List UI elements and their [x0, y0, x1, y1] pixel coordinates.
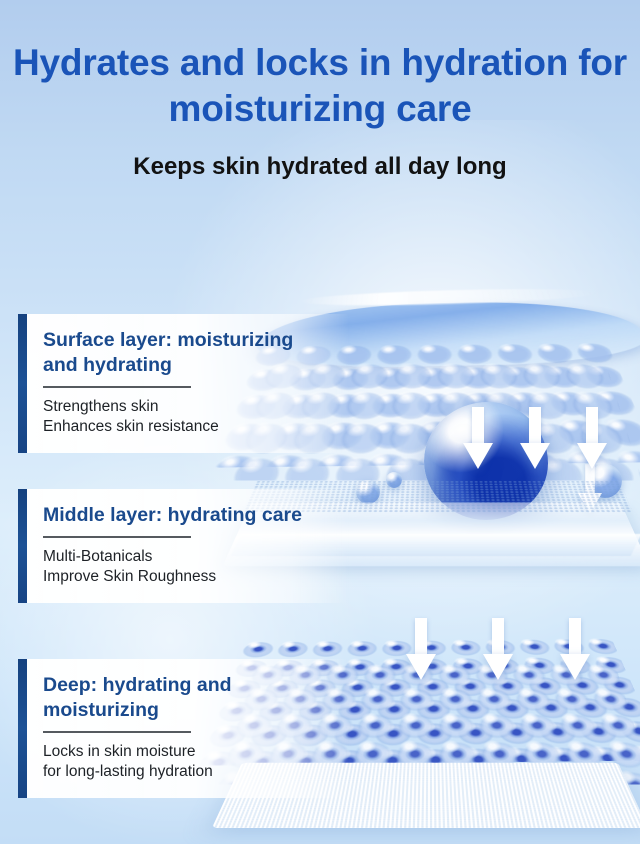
card-accent-bar — [18, 489, 27, 603]
down-arrow-row1-1 — [463, 407, 493, 469]
down-arrow-row2-1 — [406, 618, 436, 680]
card-body: Locks in skin moisture for long-lasting … — [43, 742, 333, 782]
arrow-head — [577, 443, 607, 469]
arrow-head — [406, 654, 436, 680]
card-panel: Surface layer: moisturizing and hydratin… — [27, 314, 349, 453]
arrow-head — [520, 443, 550, 469]
arrow-stem — [529, 407, 541, 447]
down-arrow-row1-3 — [577, 407, 607, 469]
down-arrow-row2-3 — [560, 618, 590, 680]
card-accent-bar — [18, 659, 27, 798]
down-arrow-row2-2 — [483, 618, 513, 680]
page-subheadline: Keeps skin hydrated all day long — [0, 152, 640, 182]
down-arrow-row1-2 — [520, 407, 550, 469]
card-panel: Middle layer: hydrating care Multi-Botan… — [27, 489, 349, 603]
info-card-deep-layer: Deep: hydrating and moisturizing Locks i… — [18, 659, 349, 798]
arrow-stem — [415, 618, 427, 658]
card-title: Deep: hydrating and moisturizing — [43, 673, 333, 723]
arrow-stem — [586, 407, 598, 447]
card-divider — [43, 536, 191, 538]
poster-root: Hydrates and locks in hydration for mois… — [0, 0, 640, 844]
card-title: Surface layer: moisturizing and hydratin… — [43, 328, 333, 378]
info-card-middle-layer: Middle layer: hydrating care Multi-Botan… — [18, 489, 349, 603]
card-title: Middle layer: hydrating care — [43, 503, 333, 528]
info-card-surface-layer: Surface layer: moisturizing and hydratin… — [18, 314, 349, 453]
arrow-head — [560, 654, 590, 680]
card-body: Strengthens skin Enhances skin resistanc… — [43, 397, 333, 437]
arrow-head — [483, 654, 513, 680]
page-headline: Hydrates and locks in hydration for mois… — [0, 40, 640, 132]
card-divider — [43, 731, 191, 733]
card-accent-bar — [18, 314, 27, 453]
arrow-stem — [472, 407, 484, 447]
card-panel: Deep: hydrating and moisturizing Locks i… — [27, 659, 349, 798]
card-divider — [43, 386, 191, 388]
arrow-head — [463, 443, 493, 469]
arrow-stem — [569, 618, 581, 658]
card-body: Multi-Botanicals Improve Skin Roughness — [43, 547, 333, 587]
arrow-stem — [492, 618, 504, 658]
